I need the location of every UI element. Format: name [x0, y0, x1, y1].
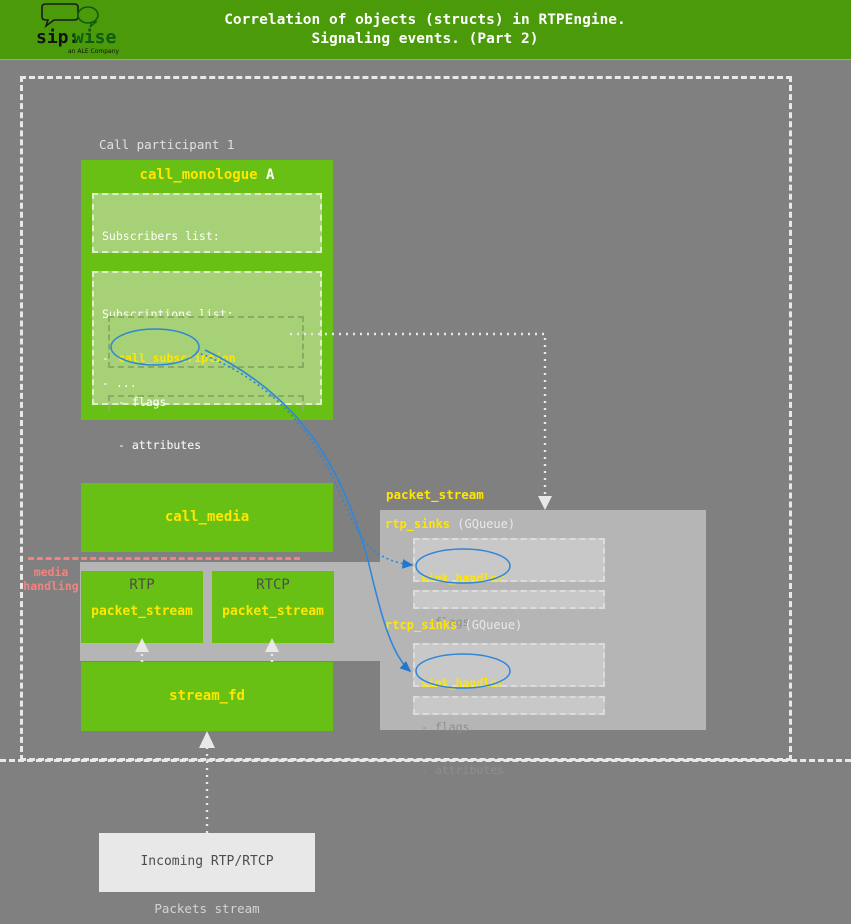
stream-fd-box[interactable]: stream_fd [81, 662, 333, 731]
rtp-sink-handler-box[interactable]: sink_handler - flags - attributes [413, 538, 605, 582]
rtcp-sinks-name: rtcp_sinks [385, 618, 457, 632]
logo-tagline: an ALE Company [68, 48, 120, 55]
subscriptions-list-item-1: - ... [102, 376, 137, 391]
call-monologue-title: call_monologue A [81, 167, 333, 183]
call-subscription-field-attributes: - attributes [118, 438, 294, 453]
call-monologue-title-text: call_monologue [140, 167, 258, 183]
rtcp-sink-handler-field-flags: - flags [421, 720, 597, 735]
rtp-title: packet_stream [81, 604, 203, 619]
rtcp-sink-handler-title: sink_handler [421, 676, 597, 691]
rtp-subtitle: RTP [81, 577, 203, 593]
rtcp-sink-handler-empty-slot[interactable] [413, 696, 605, 715]
sipwise-logo: sip: wise an ALE Company [28, 3, 138, 58]
rtcp-sinks-type: (GQueue) [464, 618, 522, 632]
media-handling-label-line-1: media [22, 565, 80, 579]
rtp-sinks-label: rtp_sinks (GQueue) [385, 517, 515, 531]
diagram-canvas: sip: wise an ALE Company Correlation of … [0, 0, 851, 924]
incoming-packets-label: Incoming RTP/RTCP [99, 854, 315, 869]
packet-boundary-divider [0, 759, 851, 762]
rtcp-title: packet_stream [212, 604, 334, 619]
page-title: Correlation of objects (structs) in RTPE… [160, 11, 690, 49]
subscribers-list-header: Subscribers list: [102, 229, 312, 244]
packet-stream-label: packet_stream [386, 487, 484, 502]
rtp-packet-stream-box[interactable]: RTP packet_stream [81, 571, 203, 643]
logo-text-wise: wise [73, 27, 117, 48]
call-participant-caption: Call participant 1 [99, 137, 234, 152]
rtp-sinks-name: rtp_sinks [385, 517, 450, 531]
incoming-packets-box[interactable]: Incoming RTP/RTCP [99, 833, 315, 892]
call-subscription-title: call_subscription [118, 351, 294, 366]
rtcp-packet-stream-box[interactable]: RTCP packet_stream [212, 571, 334, 643]
packets-stream-caption: Packets stream [99, 901, 315, 916]
rtcp-sinks-label: rtcp_sinks (GQueue) [385, 618, 522, 632]
page-title-line-1: Correlation of objects (structs) in RTPE… [160, 11, 690, 30]
rtp-sink-handler-title: sink_handler [421, 571, 597, 586]
subscriptions-list-panel[interactable]: Subscriptions list: - call monologue B c… [92, 271, 322, 405]
call-media-box[interactable]: call_media [81, 483, 333, 552]
media-handling-label-line-2: handling [22, 579, 80, 593]
stream-fd-title: stream_fd [81, 688, 333, 704]
rtcp-sink-handler-field-attributes: - attributes [421, 763, 597, 778]
rtp-sink-handler-empty-slot[interactable] [413, 590, 605, 609]
call-subscription-box[interactable]: call_subscription - flags - attributes [108, 316, 304, 368]
media-handling-label: media handling [22, 565, 80, 593]
call-monologue-box[interactable]: call_monologue A Subscribers list: - cal… [81, 160, 333, 420]
call-subscription-box-truncated [108, 395, 304, 411]
media-handling-divider [28, 557, 300, 560]
rtcp-sink-handler-box[interactable]: sink_handler - flags - attributes [413, 643, 605, 687]
call-monologue-suffix: A [266, 167, 274, 183]
rtcp-subtitle: RTCP [212, 577, 334, 593]
packet-stream-box[interactable]: rtp_sinks (GQueue) sink_handler - flags … [380, 510, 706, 730]
page-title-line-2: Signaling events. (Part 2) [160, 30, 690, 49]
call-media-title: call_media [81, 509, 333, 525]
rtp-sinks-type: (GQueue) [457, 517, 515, 531]
page-header: sip: wise an ALE Company Correlation of … [0, 0, 851, 60]
subscribers-list-panel[interactable]: Subscribers list: - call_monologue B - .… [92, 193, 322, 253]
